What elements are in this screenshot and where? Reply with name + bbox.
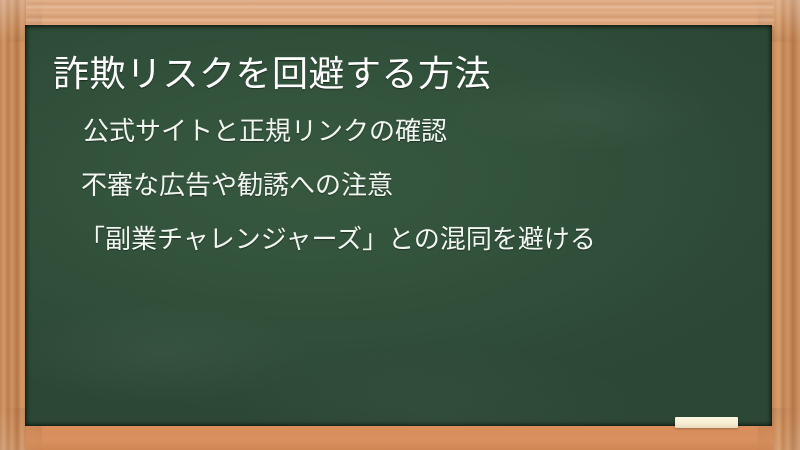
bullet-item-1: 公式サイトと正規リンクの確認 — [57, 105, 757, 159]
frame-rail-left — [0, 0, 26, 450]
chalkboard-slide: 詐欺リスクを回避する方法 公式サイトと正規リンクの確認 不審な広告や勧誘への注意… — [0, 0, 800, 450]
slide-title: 詐欺リスクを回避する方法 — [53, 53, 491, 97]
chalk-stick-icon — [675, 417, 738, 428]
bullet-list: 公式サイトと正規リンクの確認 不審な広告や勧誘への注意 「副業チャレンジャーズ」… — [57, 105, 757, 267]
chalkboard-surface: 詐欺リスクを回避する方法 公式サイトと正規リンクの確認 不審な広告や勧誘への注意… — [25, 25, 772, 426]
bullet-item-2: 不審な広告や勧誘への注意 — [57, 159, 757, 213]
frame-rail-right — [774, 0, 800, 450]
frame-rail-bottom — [0, 426, 800, 450]
frame-rail-top — [0, 0, 800, 26]
bullet-item-3: 「副業チャレンジャーズ」との混同を避ける — [57, 213, 757, 267]
